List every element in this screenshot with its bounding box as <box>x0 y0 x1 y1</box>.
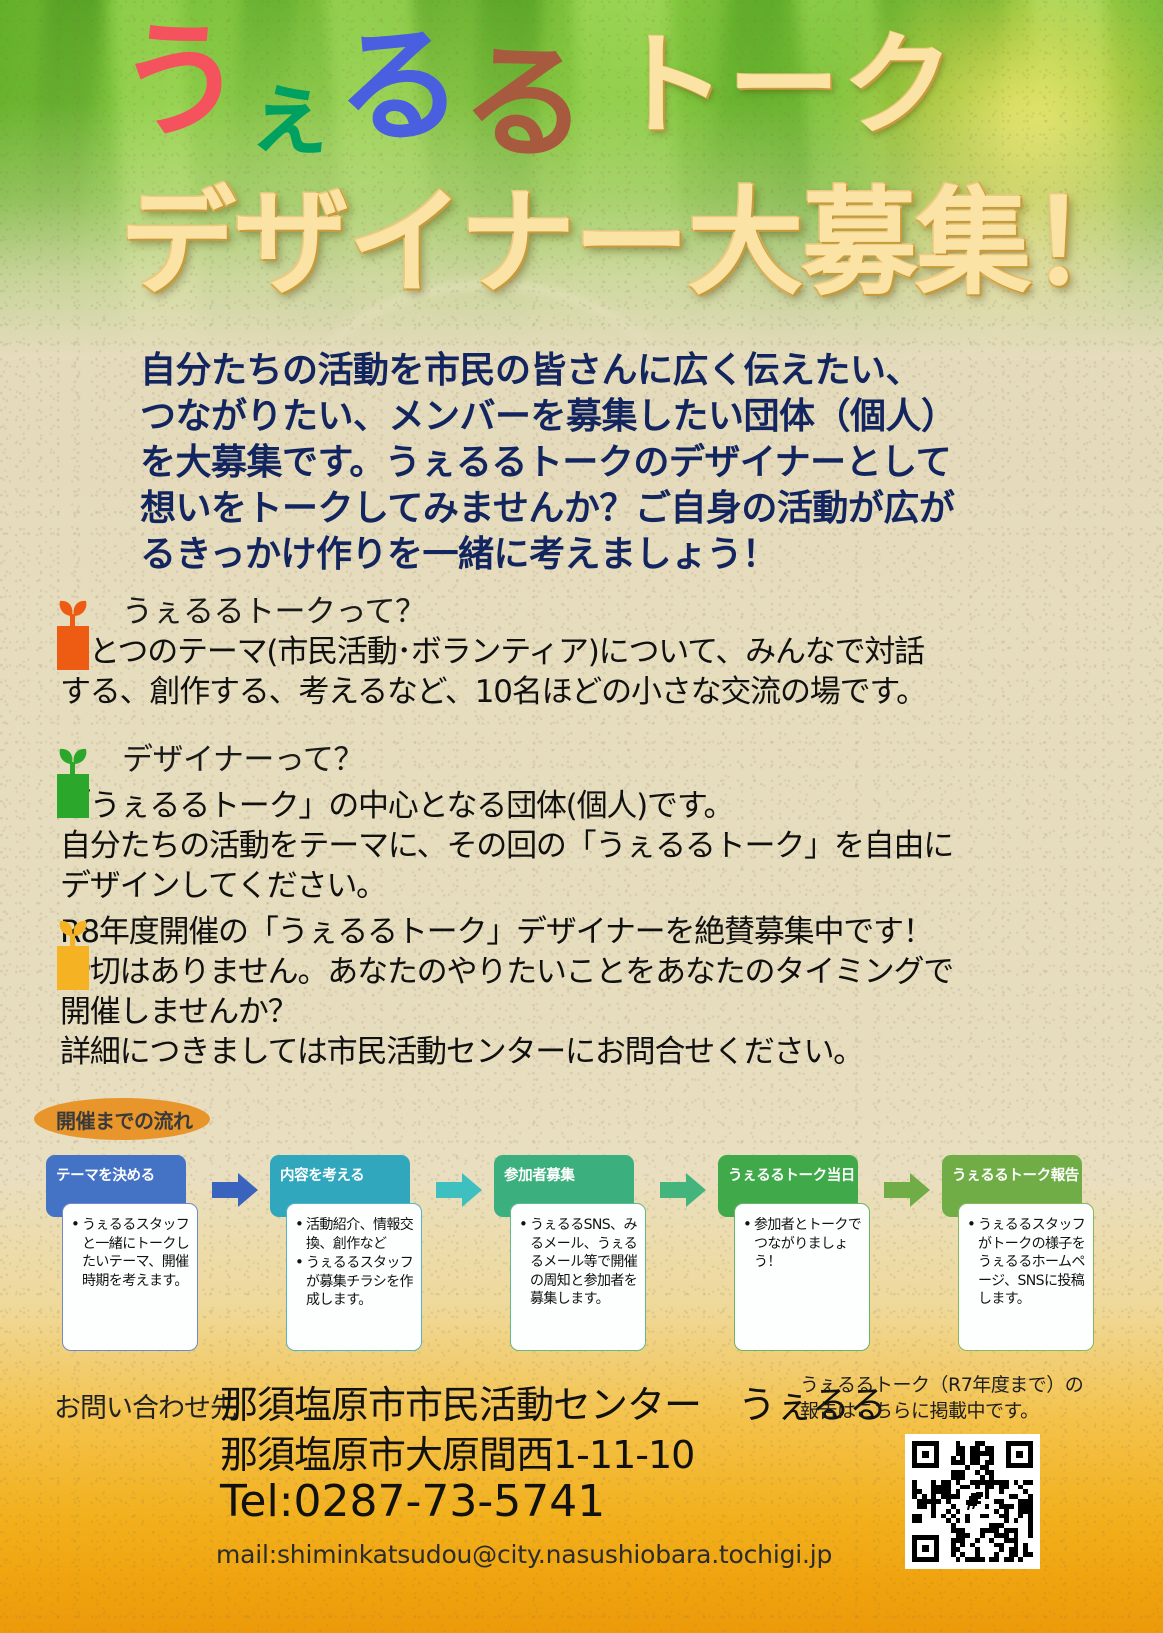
section-text: R8年度開催の「うぇるるトーク」デザイナーを絶賛募集中です！ 締切はありません。… <box>60 912 1134 1072</box>
flow-step-4: うぇるるトーク当日 参加者とトークでつながりましょう！ <box>718 1155 870 1355</box>
qr-code-icon[interactable] <box>905 1434 1040 1569</box>
section-text: 「うぇるるトーク」の中心となる団体(個人)です。 自分たちの活動をテーマに、その… <box>60 786 1124 906</box>
section-line: ひとつのテーマ(市民活動･ボランティア)について、みんなで対話 <box>60 632 1124 672</box>
intro-line: を大募集です。うぇるるトークのデザイナーとして <box>140 440 1040 486</box>
flow-step-5: うぇるるトーク報告 うぇるるスタッフがトークの様子をうぇるるホームページ、SNS… <box>942 1155 1094 1355</box>
title-talk-word: トーク <box>614 30 956 142</box>
section-line: デザインしてください。 <box>60 866 1124 906</box>
section-line: する、創作する、考えるなど、10名ほどの小さな交流の場です。 <box>60 672 1124 712</box>
section-body: R8年度開催の「うぇるるトーク」デザイナーを絶賛募集中です！ 締切はありません。… <box>122 912 1134 1072</box>
poster-title: うぇるるトーク デザイナー大募集！ <box>0 0 1163 330</box>
section-recruiting-notice: R8年度開催の「うぇるるトーク」デザイナーを絶賛募集中です！ 締切はありません。… <box>44 912 1134 1072</box>
section-what-is-designer: デザイナーって？ 「うぇるるトーク」の中心となる団体(個人)です。 自分たちの活… <box>44 740 1124 906</box>
flow-arrow-icon-3 <box>660 1173 706 1207</box>
qr-code-pattern <box>912 1441 1033 1562</box>
flow-arrow-icon-1 <box>212 1173 258 1207</box>
section-line: 締切はありません。あなたのやりたいことをあなたのタイミングで <box>60 952 1134 992</box>
flow-step-3: 参加者募集 うぇるるSNS、みるメール、うぇるるメール等で開催の周知と参加者を募… <box>494 1155 646 1355</box>
flow-step-1: テーマを決める うぇるるスタッフと一緒にトークしたいテーマ、開催時期を考えます。 <box>46 1155 198 1355</box>
flow-step-2: 内容を考える 活動紹介、情報交換、創作など うぇるるスタッフが募集チラシを作成し… <box>270 1155 422 1355</box>
intro-line: るきっかけ作りを一緒に考えましょう！ <box>140 532 1040 578</box>
intro-line: 自分たちの活動を市民の皆さんに広く伝えたい、 <box>140 348 1040 394</box>
section-line: 自分たちの活動をテーマに、その回の「うぇるるトーク」を自由に <box>60 826 1124 866</box>
flow-bullet: うぇるるスタッフが募集チラシを作成します。 <box>295 1254 415 1310</box>
intro-line: つながりたい、メンバーを募集したい団体（個人） <box>140 394 1040 440</box>
section-line: 開催しませんか？ <box>60 992 1134 1032</box>
flow-step-detail: 活動紹介、情報交換、創作など うぇるるスタッフが募集チラシを作成します。 <box>286 1203 422 1351</box>
title-char-ru2: る <box>458 36 592 170</box>
flow-arrow-icon-2 <box>436 1173 482 1207</box>
title-line-1: うぇるるトーク <box>118 18 956 144</box>
contact-email: mail:shiminkatsudou@city.nasushiobara.to… <box>216 1540 832 1569</box>
intro-line: 想いをトークしてみませんか？ご自身の活動が広が <box>140 486 1040 532</box>
qr-finder-top-left <box>912 1441 939 1468</box>
qr-caption-line: 報告はこちらに掲載中です。 <box>800 1398 1150 1424</box>
contact-telephone: Tel:0287-73-5741 <box>220 1476 605 1527</box>
section-line: 「うぇるるトーク」の中心となる団体(個人)です。 <box>60 786 1124 826</box>
flow-bullet: 参加者とトークでつながりましょう！ <box>743 1216 863 1272</box>
dinosaur-icon <box>962 1491 986 1513</box>
section-line: R8年度開催の「うぇるるトーク」デザイナーを絶賛募集中です！ <box>60 912 1134 952</box>
flow-section-badge: 開催までの流れ <box>34 1098 210 1140</box>
flow-arrow-icon-4 <box>884 1173 930 1207</box>
qr-finder-bottom-left <box>912 1535 939 1562</box>
flow-diagram: テーマを決める うぇるるスタッフと一緒にトークしたいテーマ、開催時期を考えます。… <box>46 1155 1124 1355</box>
flow-step-detail: うぇるるスタッフと一緒にトークしたいテーマ、開催時期を考えます。 <box>62 1203 198 1351</box>
section-line: 詳細につきましては市民活動センターにお問合せください。 <box>60 1032 1134 1072</box>
section-heading: うぇるるトークって？ <box>122 592 1124 632</box>
section-text: ひとつのテーマ(市民活動･ボランティア)について、みんなで対話 する、創作する、… <box>60 632 1124 712</box>
flow-step-detail: 参加者とトークでつながりましょう！ <box>734 1203 870 1351</box>
title-char-e: ぇ <box>242 67 339 164</box>
section-body: デザイナーって？ 「うぇるるトーク」の中心となる団体(個人)です。 自分たちの活… <box>122 740 1124 906</box>
contact-organization: 那須塩原市市民活動センター うぇるる <box>220 1374 886 1429</box>
flow-step-detail: うぇるるSNS、みるメール、うぇるるメール等で開催の周知と参加者を募集します。 <box>510 1203 646 1351</box>
poster-root: うぇるるトーク デザイナー大募集！ 自分たちの活動を市民の皆さんに広く伝えたい、… <box>0 0 1163 1633</box>
sprout-icon-green <box>44 744 102 822</box>
sprout-icon-orange <box>44 596 102 674</box>
flow-bullet: うぇるるSNS、みるメール、うぇるるメール等で開催の周知と参加者を募集します。 <box>519 1216 639 1309</box>
title-line-2: デザイナー大募集！ <box>120 186 1144 302</box>
flow-bullet: うぇるるスタッフと一緒にトークしたいテーマ、開催時期を考えます。 <box>71 1216 191 1290</box>
contact-label: お問い合わせ先 <box>54 1386 236 1425</box>
section-what-is-welleru-talk: うぇるるトークって？ ひとつのテーマ(市民活動･ボランティア)について、みんなで… <box>44 592 1124 712</box>
intro-paragraph: 自分たちの活動を市民の皆さんに広く伝えたい、 つながりたい、メンバーを募集したい… <box>140 348 1040 578</box>
flow-step-detail: うぇるるスタッフがトークの様子をうぇるるホームページ、SNSに投稿します。 <box>958 1203 1094 1351</box>
qr-block: うぇるるトーク（R7年度まで）の 報告はこちらに掲載中です。 <box>800 1372 1150 1569</box>
title-char-u: う <box>114 14 248 148</box>
section-heading: デザイナーって？ <box>122 740 1124 780</box>
flow-bullet: 活動紹介、情報交換、創作など <box>295 1216 415 1253</box>
title-char-ru1: る <box>333 21 465 153</box>
sprout-icon-yellow <box>44 916 102 994</box>
section-body: うぇるるトークって？ ひとつのテーマ(市民活動･ボランティア)について、みんなで… <box>122 592 1124 712</box>
contact-address: 那須塩原市大原間西1-11-10 <box>220 1424 694 1479</box>
flow-bullet: うぇるるスタッフがトークの様子をうぇるるホームページ、SNSに投稿します。 <box>967 1216 1087 1309</box>
qr-finder-top-right <box>1006 1441 1033 1468</box>
qr-caption-line: うぇるるトーク（R7年度まで）の <box>800 1372 1150 1398</box>
qr-caption: うぇるるトーク（R7年度まで）の 報告はこちらに掲載中です。 <box>800 1372 1150 1424</box>
